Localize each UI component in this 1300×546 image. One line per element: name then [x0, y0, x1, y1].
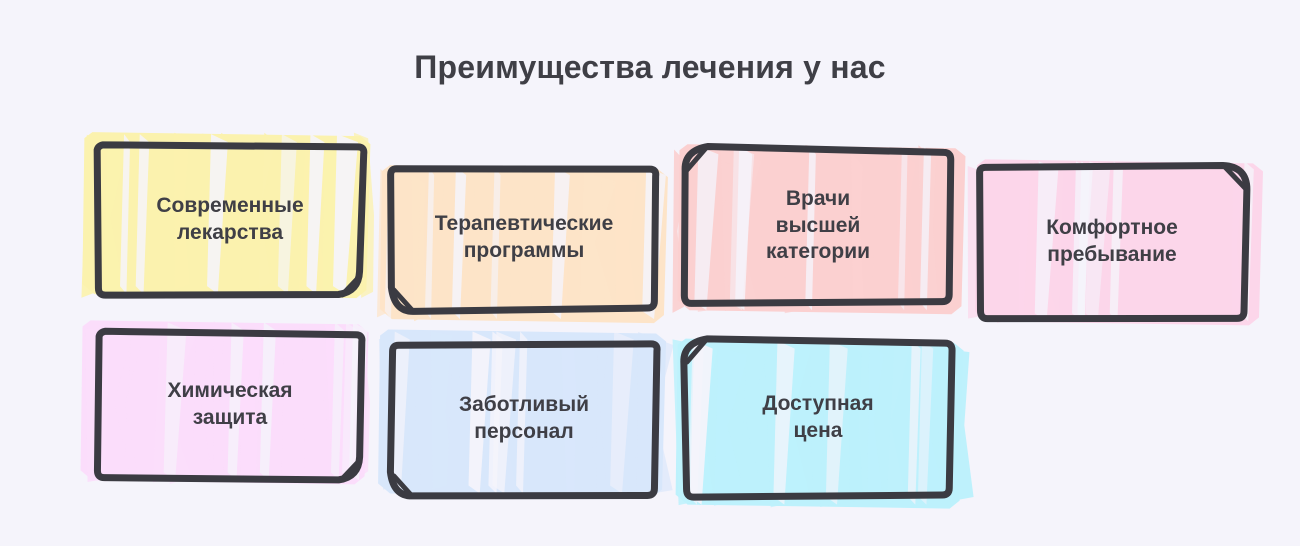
benefit-card-label: Современные лекарства [98, 146, 362, 294]
benefit-card-dostupnaya-tsena[interactable]: Доступная цена [686, 342, 950, 494]
benefit-card-label: Заботливый персонал [392, 344, 656, 494]
infographic-root: Преимущества лечения у нас Современные л… [0, 0, 1300, 546]
benefit-card-label: Химическая защита [98, 332, 362, 478]
benefit-card-sovremennye-lekarstva[interactable]: Современные лекарства [98, 146, 362, 294]
benefit-card-terapevticheskie-programmy[interactable]: Терапевтические программы [392, 168, 656, 308]
benefit-card-label: Врачи высшей категории [686, 150, 950, 302]
benefit-card-khimicheskaya-zashchita[interactable]: Химическая защита [98, 332, 362, 478]
benefit-card-label: Комфортное пребывание [980, 168, 1244, 316]
page-title: Преимущества лечения у нас [0, 48, 1300, 86]
benefit-card-label: Доступная цена [686, 342, 950, 494]
benefit-card-vrachi-vysshey-kategorii[interactable]: Врачи высшей категории [686, 150, 950, 302]
benefit-card-komfortnoe-prebyvanie[interactable]: Комфортное пребывание [980, 168, 1244, 316]
benefit-card-zabotlivyy-personal[interactable]: Заботливый персонал [392, 344, 656, 494]
benefit-card-label: Терапевтические программы [392, 168, 656, 308]
